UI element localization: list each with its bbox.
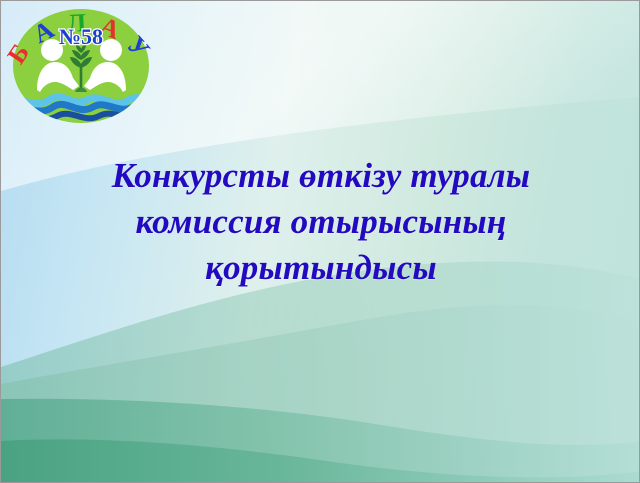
title-line-2: комиссия отырысының (61, 199, 581, 245)
logo-letter-6: А (7, 6, 17, 12)
title-line-1: Конкурсты өткізу туралы (61, 153, 581, 199)
logo-letter-5: С (7, 6, 16, 12)
title-line-3: қорытындысы (61, 245, 581, 291)
balausa-kindergarten-logo: Б А Л А У С А №58 (7, 6, 155, 126)
logo-number-label: №58 (59, 24, 103, 49)
logo-waves-icon (7, 97, 155, 122)
presentation-slide: Б А Л А У С А №58 Конкурсты өткізу турал… (0, 0, 640, 483)
slide-title: Конкурсты өткізу туралы комиссия отырысы… (61, 153, 581, 291)
